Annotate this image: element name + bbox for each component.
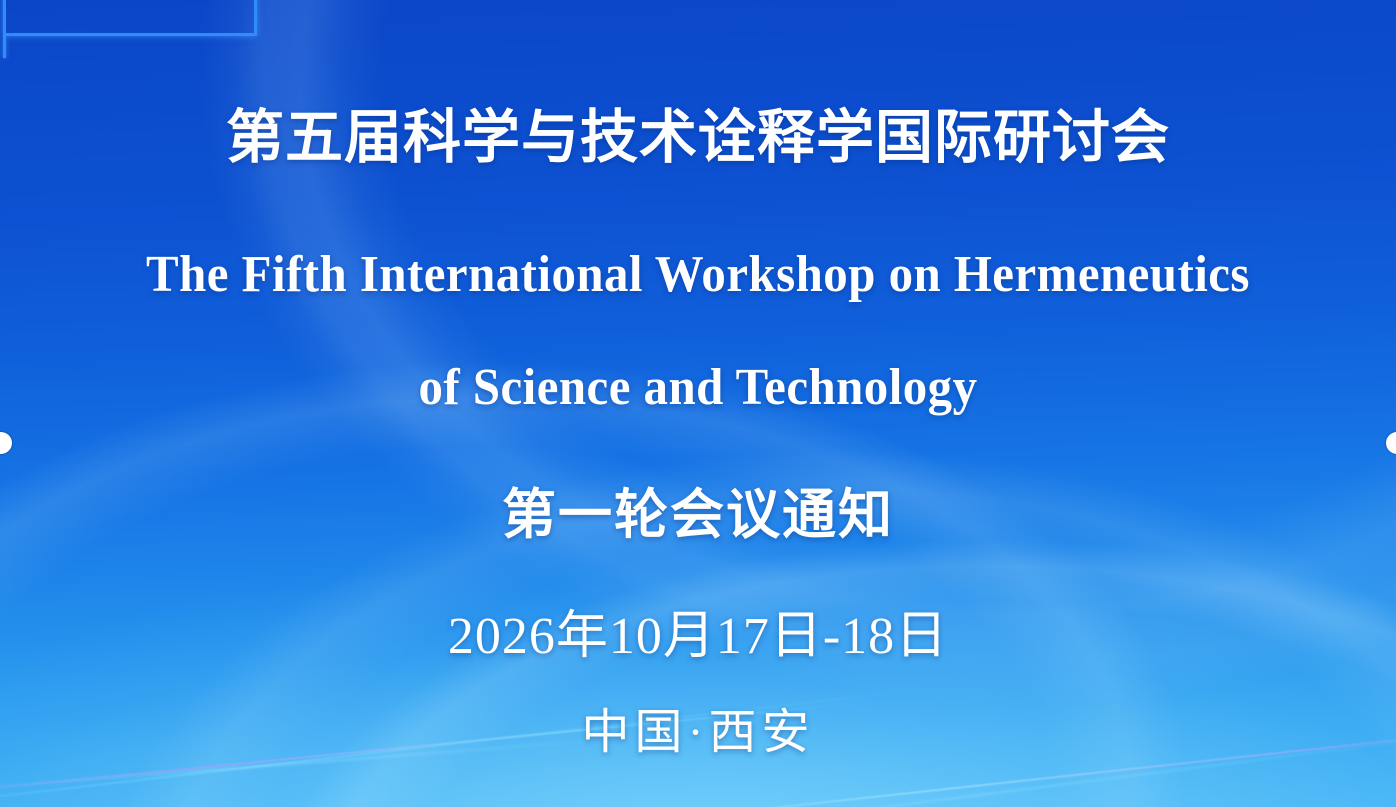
poster-text-block: 第五届科学与技术诠释学国际研讨会 The Fifth International… [0, 0, 1396, 807]
conference-location: 中国·西安 [0, 692, 1396, 762]
conference-title-chinese: 第五届科学与技术诠释学国际研讨会 [0, 106, 1396, 170]
conference-announcement-poster: 第五届科学与技术诠释学国际研讨会 The Fifth International… [0, 0, 1396, 807]
conference-title-english-line2: of Science and Technology [42, 358, 1354, 417]
conference-date: 2026年10月17日-18日 [0, 593, 1396, 668]
conference-title-english-line1: The Fifth International Workshop on Herm… [42, 245, 1354, 304]
announcement-round-subtitle: 第一轮会议通知 [0, 470, 1396, 549]
